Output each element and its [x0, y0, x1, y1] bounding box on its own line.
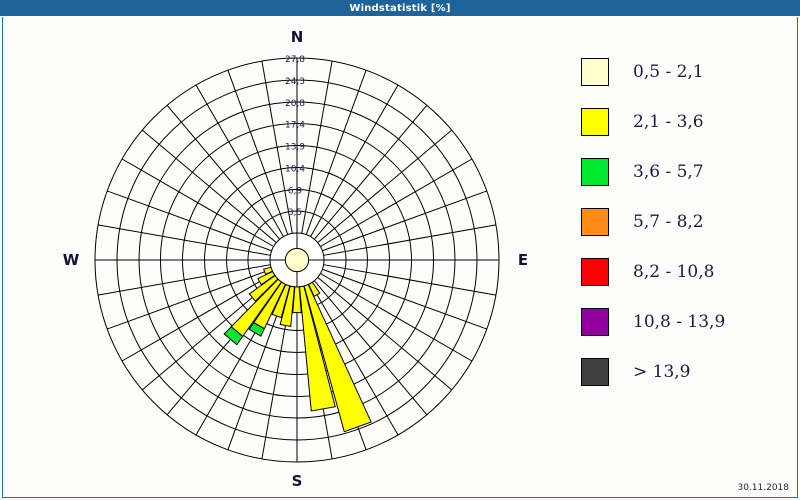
radial-tick-label: 13,9	[285, 143, 305, 153]
legend-label: 8,2 - 10,8	[633, 262, 714, 282]
legend-label: 3,6 - 5,7	[633, 162, 704, 182]
wind-rose-plot: 3,56,910,413,917,420,824,327,8 NESW	[3, 17, 563, 498]
legend-item[interactable]: 0,5 - 2,1	[581, 47, 796, 97]
legend-label: 10,8 - 13,9	[633, 312, 725, 332]
radial-tick-labels: 3,56,910,413,917,420,824,327,8	[285, 55, 305, 218]
legend-swatch	[581, 208, 609, 236]
content-panel: 3,56,910,413,917,420,824,327,8 NESW 0,5 …	[2, 17, 798, 498]
legend-item[interactable]: 2,1 - 3,6	[581, 97, 796, 147]
wind-rose-svg: 3,56,910,413,917,420,824,327,8 NESW	[3, 17, 563, 498]
cardinal-label-west: W	[63, 251, 80, 269]
cardinal-label-east: E	[518, 251, 528, 269]
legend-label: 0,5 - 2,1	[633, 62, 704, 82]
radial-tick-label: 27,8	[285, 55, 305, 65]
window-titlebar: Windstatistik [%]	[0, 0, 800, 16]
legend-item[interactable]: 5,7 - 8,2	[581, 197, 796, 247]
radial-tick-label: 3,5	[288, 208, 302, 218]
legend-swatch	[581, 108, 609, 136]
radial-tick-label: 17,4	[285, 120, 305, 130]
legend-item[interactable]: 10,8 - 13,9	[581, 297, 796, 347]
speed-legend: 0,5 - 2,12,1 - 3,63,6 - 5,75,7 - 8,28,2 …	[581, 47, 796, 397]
legend-label: 5,7 - 8,2	[633, 212, 704, 232]
window-title: Windstatistik [%]	[349, 3, 450, 14]
legend-swatch	[581, 308, 609, 336]
calm-center	[285, 248, 308, 271]
legend-item[interactable]: 8,2 - 10,8	[581, 247, 796, 297]
legend-label: > 13,9	[633, 362, 691, 382]
radial-tick-label: 6,9	[288, 187, 303, 197]
legend-label: 2,1 - 3,6	[633, 112, 704, 132]
legend-swatch	[581, 358, 609, 386]
radial-tick-label: 10,4	[285, 165, 305, 175]
date-stamp: 30.11.2018	[737, 483, 789, 493]
radial-tick-label: 24,3	[285, 77, 305, 87]
legend-swatch	[581, 158, 609, 186]
cardinal-label-south: S	[292, 472, 303, 490]
calm-dot	[285, 248, 308, 271]
radial-tick-label: 20,8	[285, 99, 305, 109]
legend-item[interactable]: > 13,9	[581, 347, 796, 397]
legend-item[interactable]: 3,6 - 5,7	[581, 147, 796, 197]
legend-swatch	[581, 58, 609, 86]
cardinal-label-north: N	[291, 28, 304, 46]
legend-swatch	[581, 258, 609, 286]
wind-rose-window: Windstatistik [%] 3,56,910,413,917,420,8…	[0, 0, 800, 500]
